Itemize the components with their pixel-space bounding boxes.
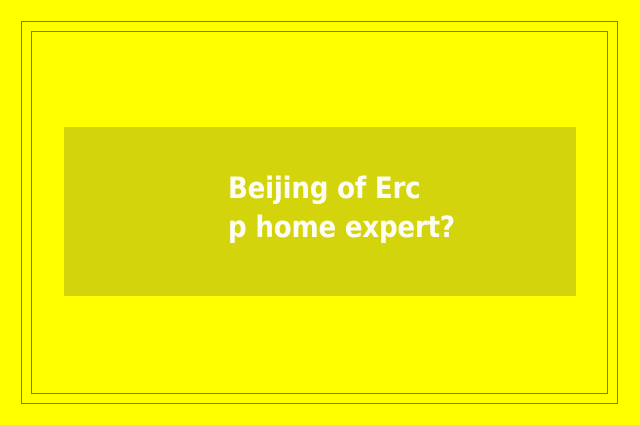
content-panel: Beijing of Erc p home expert?: [64, 127, 576, 296]
page-canvas: Beijing of Erc p home expert?: [0, 0, 640, 425]
headline-text: Beijing of Erc p home expert?: [228, 169, 558, 247]
